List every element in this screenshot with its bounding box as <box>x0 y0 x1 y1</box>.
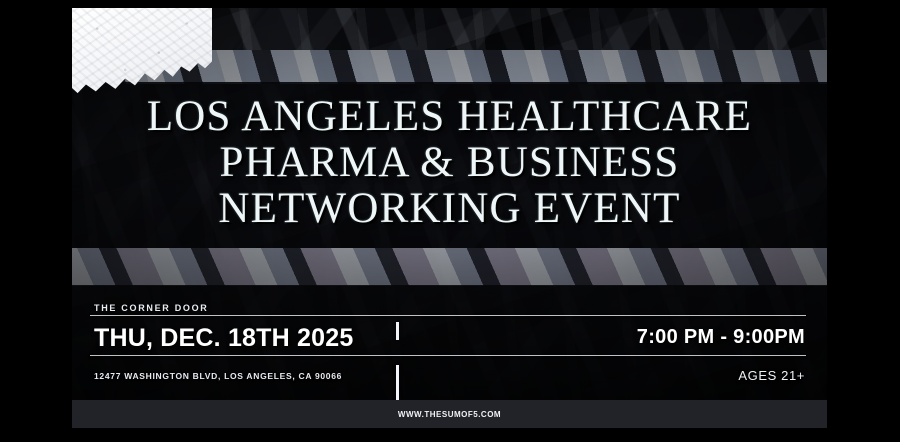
footer-black-strip <box>72 428 827 436</box>
event-time: 7:00 PM - 9:00PM <box>637 326 805 349</box>
divider-rule-top <box>90 315 806 316</box>
age-restriction: AGES 21+ <box>738 368 805 383</box>
event-title: LOS ANGELES HEALTHCARE PHARMA & BUSINESS… <box>72 94 827 232</box>
event-date: THU, DEC. 18TH 2025 <box>94 324 353 353</box>
title-line-2: PHARMA & BUSINESS <box>72 140 827 186</box>
venue-address: 12477 WASHINGTON BLVD, LOS ANGELES, CA 9… <box>94 371 342 381</box>
footer-bar: WWW.THESUMOF5.COM <box>72 400 827 428</box>
title-line-3: NETWORKING EVENT <box>72 186 827 232</box>
flyer-banner: LOS ANGELES HEALTHCARE PHARMA & BUSINESS… <box>72 8 827 436</box>
divider-tick-top <box>396 322 399 340</box>
website-url[interactable]: WWW.THESUMOF5.COM <box>398 410 501 419</box>
venue-name: THE CORNER DOOR <box>94 303 209 313</box>
event-flyer: LOS ANGELES HEALTHCARE PHARMA & BUSINESS… <box>0 0 900 442</box>
divider-rule-bottom <box>90 355 806 356</box>
title-line-1: LOS ANGELES HEALTHCARE <box>72 94 827 140</box>
